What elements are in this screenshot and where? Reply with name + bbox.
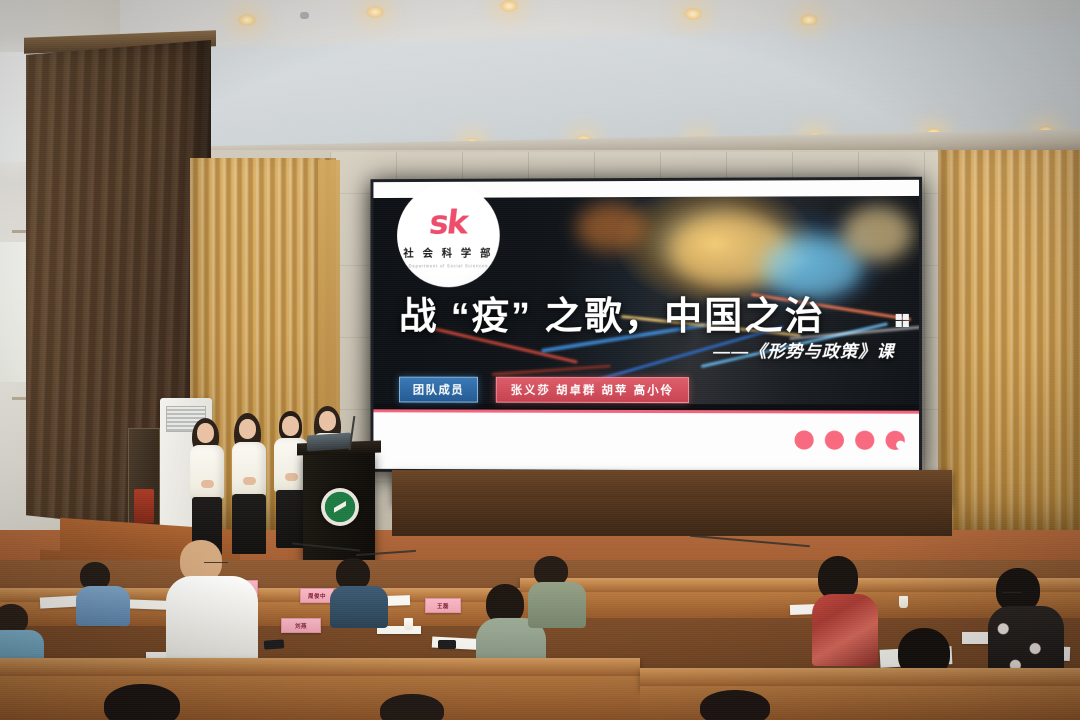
photo-bokeh bbox=[842, 206, 913, 262]
eyeglasses-icon bbox=[204, 562, 228, 566]
team-label-badge: 团队成员 bbox=[399, 377, 478, 403]
presenter-blouse bbox=[232, 442, 266, 496]
left-window-upper bbox=[0, 52, 26, 162]
audience-head bbox=[380, 694, 444, 720]
eyeglasses-icon bbox=[1002, 592, 1022, 596]
footer-dot bbox=[795, 430, 814, 449]
presenter-hands bbox=[243, 477, 256, 485]
ceiling-downlight bbox=[684, 8, 702, 20]
logo-monogram: sk bbox=[428, 205, 469, 238]
audience-torso bbox=[166, 576, 258, 664]
audience-head bbox=[104, 684, 180, 720]
paper-cup bbox=[404, 618, 413, 630]
paper-cup bbox=[899, 596, 908, 608]
photo-light-streak bbox=[492, 365, 611, 376]
led-presentation-screen: sk 社 会 科 学 部 Department of Social Scienc… bbox=[370, 177, 922, 474]
gold-stage-curtain-right bbox=[938, 150, 1080, 550]
mobile-phone[interactable] bbox=[438, 640, 456, 649]
footer-dot bbox=[886, 431, 905, 450]
audience-desk-front-row bbox=[640, 668, 1080, 688]
slide-footer-bar bbox=[373, 409, 919, 471]
audience-desk-front-row bbox=[0, 658, 640, 678]
team-members-row: 团队成员 张义莎 胡卓群 胡苹 高小伶 bbox=[399, 377, 689, 403]
presenter-hands bbox=[285, 473, 298, 481]
logo-department-cn: 社 会 科 学 部 bbox=[403, 245, 493, 260]
audience-desk-front-panel bbox=[0, 676, 640, 720]
slide-content: sk 社 会 科 学 部 Department of Social Scienc… bbox=[373, 180, 919, 471]
presenter-head bbox=[197, 423, 214, 443]
audience-torso bbox=[528, 582, 586, 628]
left-window-lower bbox=[0, 242, 30, 382]
ceiling-downlight bbox=[500, 0, 518, 12]
lectern-podium bbox=[303, 450, 375, 560]
grid-cell bbox=[903, 314, 909, 320]
fire-extinguisher-icon bbox=[134, 489, 154, 523]
department-logo-badge: sk 社 会 科 学 部 Department of Social Scienc… bbox=[397, 184, 500, 288]
name-placard: 刘燕 bbox=[281, 618, 321, 633]
presenter-head bbox=[319, 411, 336, 431]
slide-subtitle: ——《形势与政策》课 bbox=[713, 337, 895, 362]
name-placard: 王磊 bbox=[425, 598, 461, 613]
stage-riser-lower bbox=[392, 498, 952, 536]
presenter-skirt bbox=[232, 494, 266, 554]
window-grid-icon bbox=[896, 314, 909, 327]
logo-department-en: Department of Social Sciences bbox=[409, 263, 488, 268]
audience-torso bbox=[330, 586, 388, 628]
grid-cell bbox=[903, 321, 909, 327]
slide-title: 战 “疫” 之歌，中国之治 bbox=[399, 285, 825, 340]
ceiling-downlight bbox=[800, 14, 818, 26]
audience-torso bbox=[76, 586, 130, 626]
podium-laptop bbox=[307, 432, 351, 451]
audience-head bbox=[700, 690, 770, 720]
fire-extinguisher-cabinet bbox=[128, 428, 160, 532]
name-placard: 周俊中 bbox=[300, 588, 334, 603]
presenter-hands bbox=[201, 480, 214, 488]
ceiling-downlight bbox=[238, 14, 256, 26]
grid-cell bbox=[896, 321, 902, 327]
footer-dot bbox=[825, 431, 844, 450]
mobile-phone[interactable] bbox=[264, 639, 285, 649]
grid-cell bbox=[896, 314, 902, 320]
university-crest-emblem bbox=[321, 488, 359, 526]
presenter-head bbox=[239, 419, 256, 439]
team-names-badge: 张义莎 胡卓群 胡苹 高小伶 bbox=[496, 377, 689, 403]
smoke-detector-icon bbox=[300, 12, 309, 19]
audience-torso bbox=[812, 594, 878, 666]
footer-dots bbox=[795, 430, 905, 449]
photo-bokeh bbox=[576, 203, 646, 251]
auditorium-photo: sk 社 会 科 学 部 Department of Social Scienc… bbox=[0, 0, 1080, 720]
ceiling-downlight bbox=[366, 6, 384, 18]
presenter-trousers bbox=[276, 490, 306, 548]
footer-dot bbox=[855, 431, 874, 450]
presenter-blouse bbox=[190, 445, 224, 499]
presenter-head bbox=[282, 416, 299, 436]
